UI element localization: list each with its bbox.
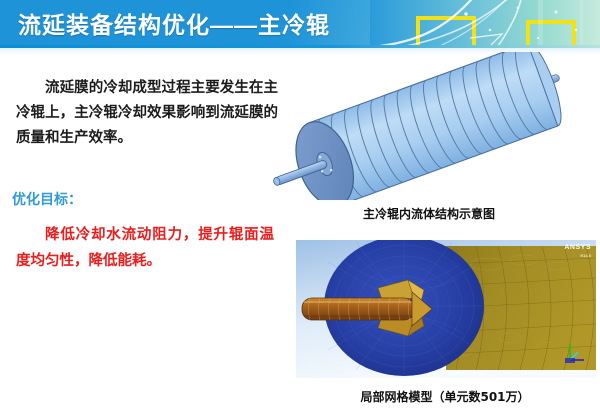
- optimization-goal-label: 优化目标：: [12, 189, 82, 209]
- page-title: 流延装备结构优化——主冷辊: [18, 6, 330, 40]
- header-decoration-graphic: [370, 0, 600, 46]
- ansys-watermark-text: ANSYS: [564, 244, 591, 251]
- slide-header: 流延装备结构优化——主冷辊: [0, 0, 600, 46]
- mesh-figure-caption: 局部网格模型（单元数501万）: [290, 388, 600, 405]
- ansys-watermark: ANSYS R14.5: [564, 244, 591, 260]
- mesh-cfd-figure: ANSYS R14.5: [296, 240, 596, 378]
- roller-3d-figure: [258, 52, 600, 200]
- roller-figure-caption: 主冷辊内流体结构示意图: [258, 205, 600, 222]
- slide: 流延装备结构优化——主冷辊 流延膜的冷却成型过程主要发生在主冷辊上，主冷辊冷却效…: [0, 0, 600, 413]
- intro-paragraph: 流延膜的冷却成型过程主要发生在主冷辊上，主冷辊冷却效果影响到流延膜的质量和生产效…: [16, 76, 278, 151]
- optimization-goal-text: 降低冷却水流动阻力，提升辊面温度均匀性，降低能耗。: [16, 222, 274, 274]
- ansys-watermark-version: R14.5: [564, 252, 591, 260]
